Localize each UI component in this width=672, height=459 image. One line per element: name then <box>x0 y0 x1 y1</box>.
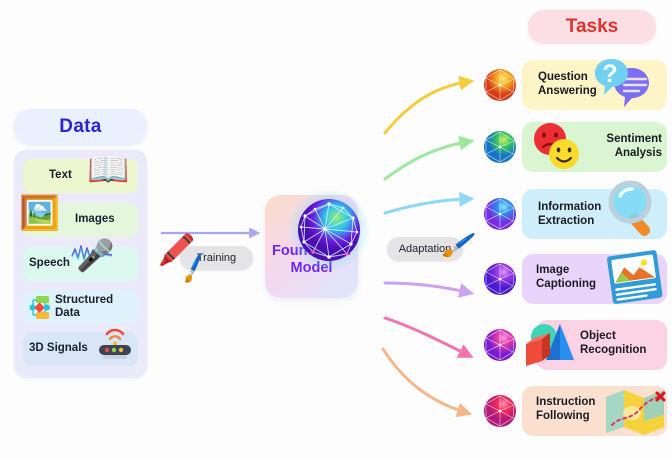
data-item-label: Text <box>49 169 72 182</box>
task-label: SentimentAnalysis <box>578 132 662 160</box>
polyhedron-sphere-green-icon <box>482 129 518 165</box>
arrow-image-captioning <box>385 283 466 292</box>
task-row[interactable]: InstructionFollowing <box>480 382 672 440</box>
data-item-structured-data[interactable]: StructuredData <box>23 290 138 324</box>
flowchart-icon <box>28 294 54 321</box>
polyhedron-sphere-blue-icon <box>482 196 518 232</box>
polyhedron-sphere-orange-icon <box>482 67 518 103</box>
task-row[interactable]: ImageCaptioning <box>480 250 672 308</box>
lidar-sensor-icon <box>93 322 137 366</box>
task-label: ObjectRecognition <box>580 329 646 357</box>
polyhedron-network-sphere-icon <box>295 196 363 264</box>
photos-icon: 🖼️ <box>19 196 60 229</box>
data-item-speech[interactable]: Speech 🎤 <box>23 247 138 281</box>
magnifying-glass-icon <box>604 180 668 242</box>
data-item-3d-signals[interactable]: 3D Signals <box>23 332 138 366</box>
diagram-canvas: Data Text 📖 🖼️ Images Speech 🎤 <box>0 0 672 459</box>
paintbrush-icon: 🖌️ <box>441 230 477 260</box>
svg-text:?: ? <box>602 60 617 88</box>
data-item-label: Speech <box>29 257 70 270</box>
speech-bubbles-question-icon: ? <box>594 58 672 114</box>
data-header: Data <box>14 109 147 145</box>
task-label: InformationExtraction <box>538 200 601 228</box>
arrow-information-extraction <box>385 199 466 213</box>
arrow-object-recognition <box>385 318 466 354</box>
treasure-map-icon <box>602 385 670 439</box>
data-item-label: 3D Signals <box>29 342 88 355</box>
tasks-header: Tasks <box>528 10 656 44</box>
polyhedron-sphere-red-icon <box>482 393 518 429</box>
task-label: ImageCaptioning <box>536 263 596 291</box>
emoji-faces-icon <box>530 121 588 173</box>
tasks-title: Tasks <box>566 16 618 38</box>
polyhedron-sphere-magenta-icon <box>482 327 518 363</box>
data-item-text[interactable]: Text 📖 <box>23 159 138 193</box>
polyhedron-sphere-purple-icon <box>482 261 518 297</box>
data-item-label: Images <box>75 213 115 226</box>
picture-document-icon <box>602 249 668 309</box>
open-book-icon: 📖 <box>87 153 129 187</box>
data-panel: Text 📖 🖼️ Images Speech 🎤 <box>14 150 147 378</box>
data-title: Data <box>59 116 101 138</box>
task-row[interactable]: ObjectRecognition <box>480 316 672 374</box>
arrow-instruction-following <box>383 349 464 412</box>
microphone-wave-icon: 🎤 <box>76 240 115 271</box>
task-row[interactable]: QuestionAnswering ? <box>480 56 672 114</box>
task-label: InstructionFollowing <box>536 395 595 423</box>
3d-shapes-icon <box>518 318 580 372</box>
arrow-question-answering <box>385 82 466 133</box>
data-item-label: StructuredData <box>55 294 113 320</box>
task-row[interactable]: SentimentAnalysis <box>480 118 672 176</box>
task-label: QuestionAnswering <box>538 70 597 98</box>
arrow-sentiment-analysis <box>385 142 466 179</box>
data-item-images[interactable]: 🖼️ Images <box>23 203 138 237</box>
task-row[interactable]: InformationExtraction <box>480 185 672 243</box>
